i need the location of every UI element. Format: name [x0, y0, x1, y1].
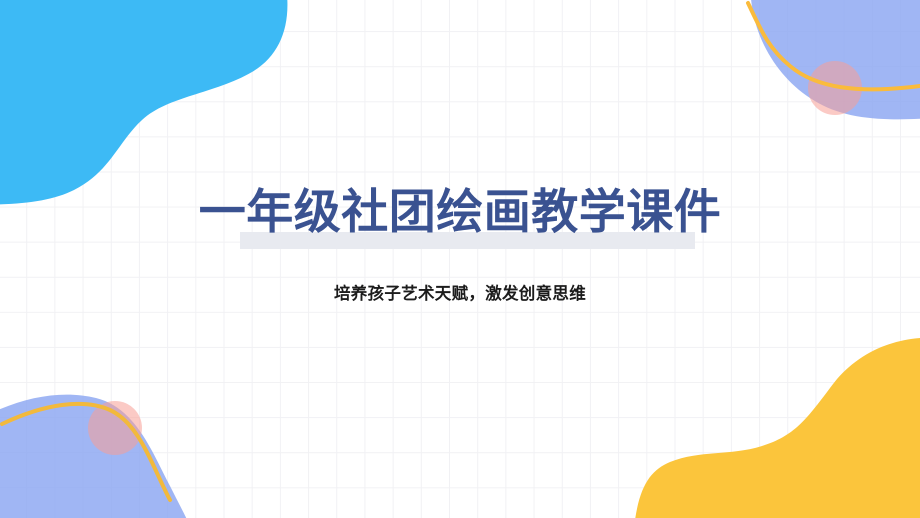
page-subtitle: 培养孩子艺术天赋，激发创意思维: [0, 281, 920, 307]
slide-title-container: 一年级社团绘画教学课件: [0, 183, 920, 241]
page-title: 一年级社团绘画教学课件: [0, 183, 920, 241]
slide-subtitle-container: 培养孩子艺术天赋，激发创意思维: [0, 281, 920, 307]
presentation-slide: 一年级社团绘画教学课件 培养孩子艺术天赋，激发创意思维: [0, 0, 920, 518]
title-area: 一年级社团绘画教学课件 培养孩子艺术天赋，激发创意思维: [0, 0, 920, 518]
